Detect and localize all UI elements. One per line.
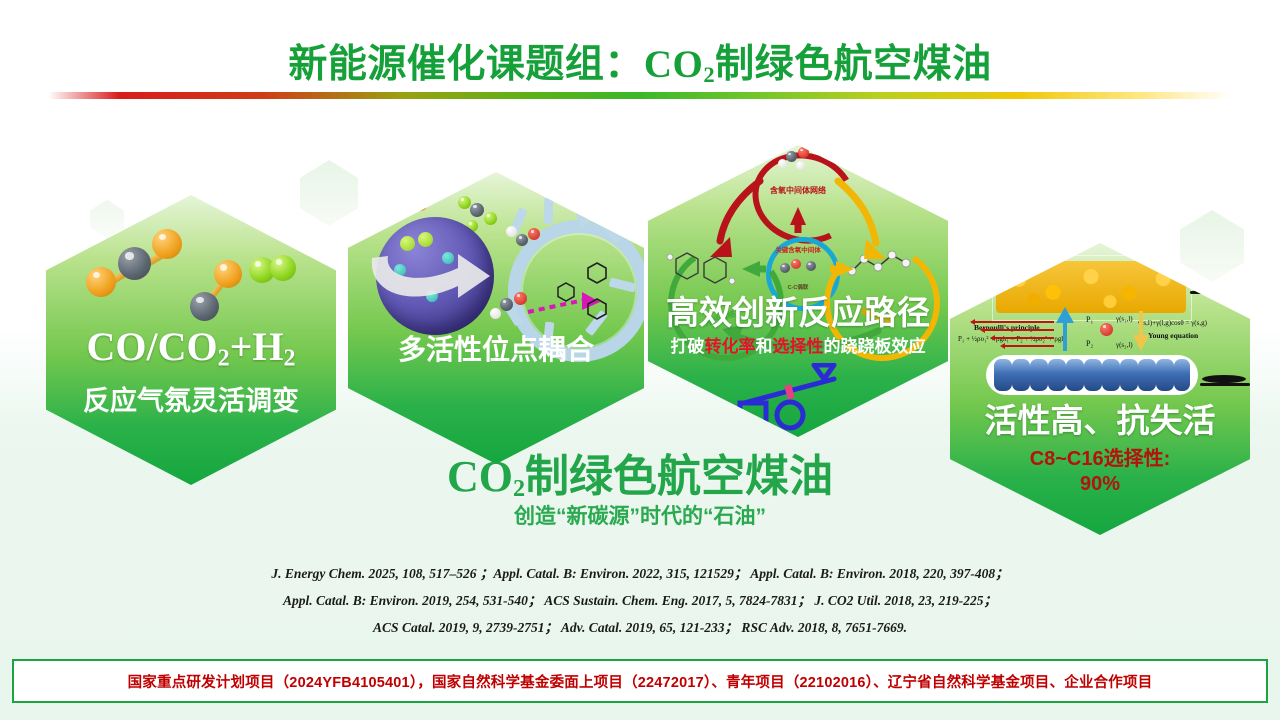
atom-oxygen [214,260,242,288]
funding-banner-text: 国家重点研发计划项目（2024YFB4105401），国家自然科学基金委面上项目… [128,671,1153,692]
atom-oxygen [378,205,393,220]
watermark-hexagon [300,160,358,226]
watermark-hexagon [90,200,124,238]
surface-line [1200,383,1250,386]
pore-spoke [544,198,554,224]
gamma-s1l: γ(s₁,l) [1116,315,1133,323]
subcaption-mid: 和 [756,337,773,356]
subcaption-pre: 打破 [671,337,705,356]
atom-carbon [500,298,513,311]
atom-oxygen [152,229,182,259]
panel-feedstock-formula: CO/CO2+H2 [46,325,336,372]
nanorod [994,359,1012,391]
page-title-suffix: 制绿色航空煤油 [715,43,992,86]
atom-hydrogen [458,196,471,209]
water-droplet-molecule [1100,323,1113,336]
nanorod [1030,359,1048,391]
nanorod [1012,359,1030,391]
atom-carbon [395,200,411,216]
page-title: 新能源催化课题组：CO2制绿色航空煤油 [0,33,1280,89]
center-headline-sub: 2 [513,475,525,502]
page-title-formula: CO [644,43,704,86]
page-title-prefix: 新能源催化课题组： [288,43,644,86]
formula-part: CO/CO [86,324,217,369]
atom-hydrogen [490,308,501,319]
flow-arrow [974,321,1054,323]
atom-hydrogen [506,226,517,237]
aromatic-ring-icon [584,296,610,322]
atom-oxygen [86,267,116,297]
aromatic-ring-icon [584,260,610,286]
subcaption-highlight-conversion: 转化率 [705,337,756,356]
panel-pathway-subcaption: 打破转化率和选择性的跷跷板效应 [648,338,948,357]
center-subtitle: 创造“新碳源”时代的“石油” [0,500,1280,530]
pressure-p2: P₂ [1086,339,1093,348]
reference-line: ACS Catal. 2019, 9, 2739-2751； Adv. Cata… [0,614,1280,641]
atom-hydrogen [270,255,296,281]
upward-flux-arrow-icon [1054,305,1076,353]
flow-arrow [1004,345,1054,347]
young-title: Young equation [1148,331,1198,340]
title-divider [48,92,1232,99]
young-title-text: Young equation [1148,331,1198,340]
subcaption-highlight-selectivity: 选择性 [773,337,824,356]
transfer-arrow-icon [366,224,496,310]
aromatic-ring-icon [554,280,578,304]
downward-flux-arrow-icon [1132,309,1150,353]
reference-line: J. Energy Chem. 2025, 108, 517–526 ；Appl… [0,560,1280,587]
atom-carbon [118,247,151,280]
nanorod [1048,359,1066,391]
nanorod [1138,359,1156,391]
flow-arrow [984,329,1054,331]
atom-carbon [516,234,528,246]
funding-banner: 国家重点研发计划项目（2024YFB4105401），国家自然科学基金委面上项目… [12,659,1268,703]
nanorod [1066,359,1084,391]
formula-sub: 2 [284,345,296,371]
pressure-p1: P₁ [1086,315,1093,324]
atom-oxygen-red [528,228,540,240]
atom-oxygen [413,196,428,211]
framework-box [992,255,1192,321]
center-headline-tail: 制绿色航空煤油 [525,452,833,501]
surface-line [1190,291,1242,294]
atom-carbon [470,203,484,217]
subcaption-post: 的跷跷板效应 [824,337,926,356]
nanorod [1156,359,1174,391]
panel-stability-caption: 活性高、抗失活 [950,403,1250,439]
watermark-hexagon [1180,210,1244,282]
nanorod [1102,359,1120,391]
page-title-subscript: 2 [703,62,715,87]
panel-feedstock-caption: 反应气氛灵活调变 [46,387,336,417]
formula-part: +H [230,324,284,369]
reference-line: Appl. Catal. B: Environ. 2019, 254, 531-… [0,587,1280,614]
center-headline-formula: CO [447,452,513,501]
cycle-connector-arrows [648,145,948,365]
nanorod [1120,359,1138,391]
slide-root: 新能源催化课题组：CO2制绿色航空煤油 CO/CO2+H2 反应气氛灵活调变 [0,0,1280,720]
panel-coupling-caption: 多活性位点耦合 [348,335,644,366]
spread-droplet [1202,375,1246,383]
center-headline: CO2制绿色航空煤油 [0,440,1280,504]
formula-sub: 2 [218,345,230,371]
flow-arrow [994,337,1054,339]
gamma-s2l: γ(s₂,l) [1116,341,1133,349]
references-block: J. Energy Chem. 2025, 108, 517–526 ；Appl… [0,560,1280,641]
nanorod [1174,359,1190,391]
nanorod [1084,359,1102,391]
atom-carbon [190,292,219,321]
panel-pathway-caption: 高效创新反应路径 [648,295,948,331]
